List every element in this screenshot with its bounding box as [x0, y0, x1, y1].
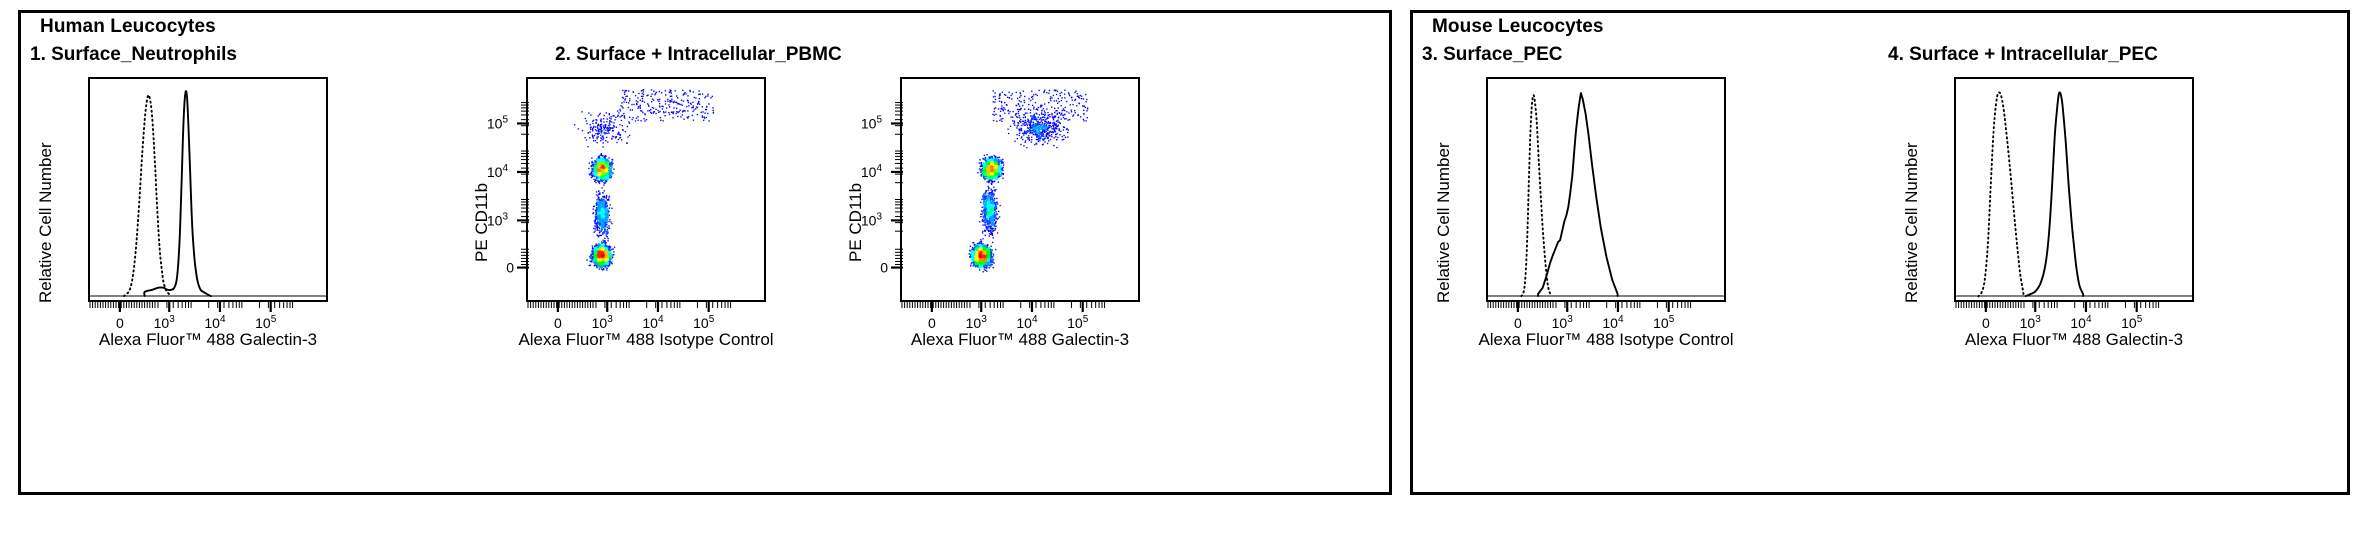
panel-4-plot	[1954, 77, 2194, 302]
panel-3-ylabel: Relative Cell Number	[1434, 142, 1454, 303]
group-title-mouse: Mouse Leucocytes	[1432, 16, 1604, 38]
panel-title-2: 2. Surface + Intracellular_PBMC	[555, 44, 842, 66]
panel-1-histogram-curves	[90, 79, 326, 300]
panel-3-histogram-curves	[1488, 79, 1724, 300]
panel-2b-scatter-points	[902, 79, 1138, 300]
panel-1-xlabel: Alexa Fluor™ 488 Galectin-3	[68, 330, 348, 350]
panel-2b-ylabel: PE CD11b	[846, 183, 866, 262]
panel-2-scatter-points	[528, 79, 764, 300]
panel-title-3: 3. Surface_PEC	[1422, 44, 1562, 66]
panel-4-ylabel: Relative Cell Number	[1902, 142, 1922, 303]
panel-title-4: 4. Surface + Intracellular_PEC	[1888, 44, 2158, 66]
panel-2-plot	[526, 77, 766, 302]
panel-2-xlabel: Alexa Fluor™ 488 Isotype Control	[506, 330, 786, 350]
panel-4-histogram-curves	[1956, 79, 2192, 300]
panel-3-plot	[1486, 77, 1726, 302]
panel-4-xlabel: Alexa Fluor™ 488 Galectin-3	[1934, 330, 2214, 350]
panel-3-xlabel: Alexa Fluor™ 488 Isotype Control	[1466, 330, 1746, 350]
panel-1-plot	[88, 77, 328, 302]
panel-2b-plot	[900, 77, 1140, 302]
panel-2b-xlabel: Alexa Fluor™ 488 Galectin-3	[880, 330, 1160, 350]
flow-cytometry-figure: Human Leucocytes 1. Surface_Neutrophils …	[0, 0, 2359, 549]
panel-title-1: 1. Surface_Neutrophils	[30, 44, 237, 66]
panel-1-ylabel: Relative Cell Number	[36, 142, 56, 303]
panel-2-ylabel: PE CD11b	[472, 183, 492, 262]
group-title-human: Human Leucocytes	[40, 16, 216, 38]
